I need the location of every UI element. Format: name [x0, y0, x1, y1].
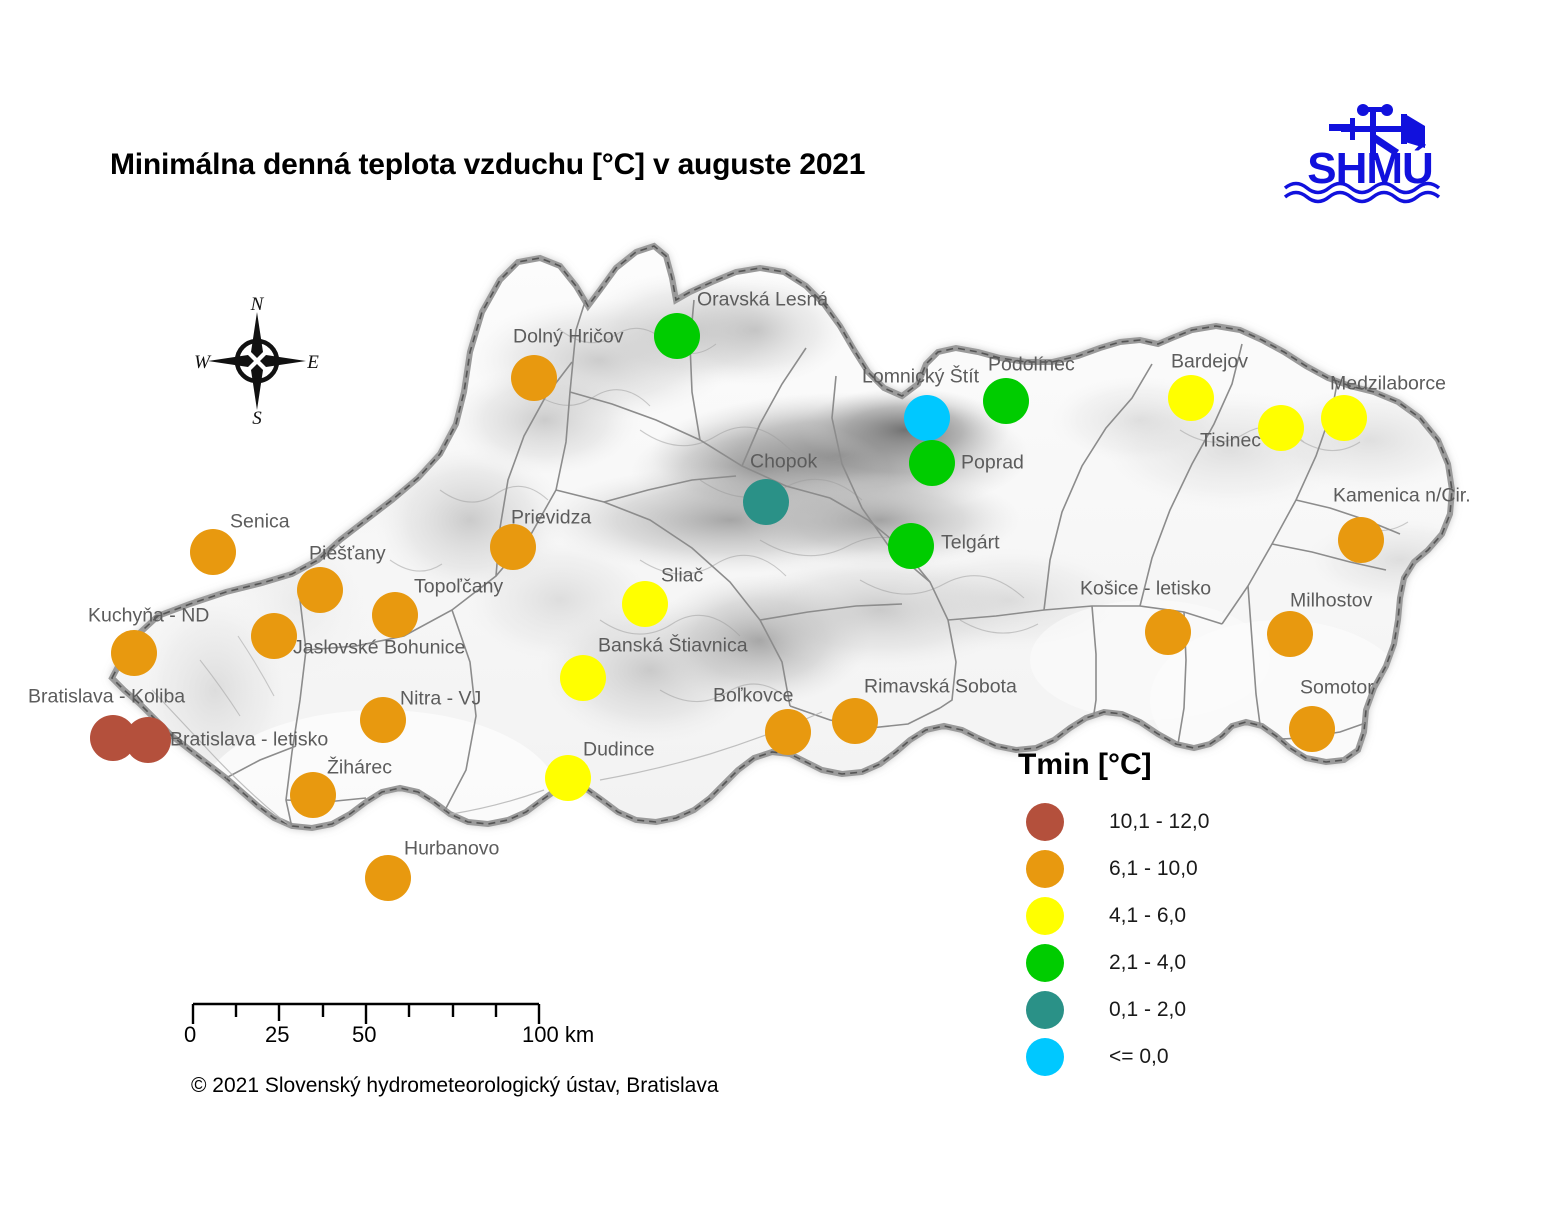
station-marker[interactable]: [1145, 609, 1191, 655]
legend-label: <= 0,0: [1109, 1045, 1169, 1069]
legend-swatch: [1026, 1038, 1064, 1076]
station-label: Sliač: [661, 565, 703, 588]
station-marker[interactable]: [904, 395, 950, 441]
compass-south-label: S: [252, 408, 262, 426]
station-label: Kuchyňa - ND: [88, 605, 209, 628]
legend-swatch: [1026, 803, 1064, 841]
legend-title: Tmin [°C]: [1018, 748, 1316, 782]
legend-label: 6,1 - 10,0: [1109, 857, 1198, 881]
scale-tick-25: 25: [265, 1022, 289, 1048]
station-label: Medzilaborce: [1330, 373, 1446, 396]
station-label: Telgárt: [941, 532, 1000, 555]
station-marker[interactable]: [372, 592, 418, 638]
legend-item: 10,1 - 12,0: [1016, 798, 1316, 845]
station-label: Bratislava - letisko: [170, 729, 328, 752]
station-label: Chopok: [750, 451, 817, 474]
map-page: Minimálna denná teplota vzduchu [°C] v a…: [0, 0, 1553, 1200]
station-label: Poprad: [961, 452, 1024, 475]
station-marker[interactable]: [1168, 375, 1214, 421]
station-label: Tisinec: [1200, 430, 1261, 453]
station-label: Senica: [230, 511, 290, 534]
station-label: Prievidza: [511, 507, 591, 530]
station-label: Nitra - VJ: [400, 688, 481, 711]
station-label: Hurbanovo: [404, 838, 499, 861]
station-label: Rimavská Sobota: [864, 676, 1017, 699]
station-marker[interactable]: [511, 355, 557, 401]
legend-item: 6,1 - 10,0: [1016, 845, 1316, 892]
legend-item: 2,1 - 4,0: [1016, 939, 1316, 986]
legend-rows: 10,1 - 12,06,1 - 10,04,1 - 6,02,1 - 4,00…: [1016, 798, 1316, 1080]
legend-swatch: [1026, 944, 1064, 982]
station-label: Topoľčany: [414, 576, 503, 599]
station-label: Oravská Lesná: [697, 289, 828, 312]
compass-north-label: N: [250, 296, 265, 315]
station-marker[interactable]: [1338, 517, 1384, 563]
station-marker[interactable]: [832, 698, 878, 744]
compass-east-label: E: [306, 352, 319, 373]
station-marker[interactable]: [622, 581, 668, 627]
compass-rose-icon: N S W E: [192, 296, 322, 426]
station-label: Podolínec: [988, 354, 1075, 377]
compass-west-label: W: [194, 352, 212, 373]
legend-label: 10,1 - 12,0: [1109, 810, 1209, 834]
copyright-text: © 2021 Slovenský hydrometeorologický úst…: [191, 1074, 719, 1098]
station-marker[interactable]: [983, 378, 1029, 424]
station-label: Jaslovské Bohunice: [293, 637, 465, 660]
station-label: Banská Štiavnica: [598, 635, 748, 658]
station-label: Piešťany: [309, 543, 386, 566]
legend-swatch: [1026, 897, 1064, 935]
station-marker[interactable]: [743, 479, 789, 525]
station-marker[interactable]: [545, 755, 591, 801]
station-marker[interactable]: [765, 709, 811, 755]
legend-label: 0,1 - 2,0: [1109, 998, 1186, 1022]
compass-rose: N S W E: [192, 296, 322, 426]
station-label: Somotor: [1300, 677, 1374, 700]
legend-label: 4,1 - 6,0: [1109, 904, 1186, 928]
station-marker[interactable]: [1321, 395, 1367, 441]
legend: Tmin [°C] 10,1 - 12,06,1 - 10,04,1 - 6,0…: [1016, 748, 1316, 1080]
station-marker[interactable]: [111, 630, 157, 676]
station-marker[interactable]: [909, 440, 955, 486]
station-label: Bardejov: [1171, 351, 1248, 374]
station-label: Dudince: [583, 739, 655, 762]
station-marker[interactable]: [490, 524, 536, 570]
legend-swatch: [1026, 850, 1064, 888]
station-marker[interactable]: [251, 613, 297, 659]
station-marker[interactable]: [654, 313, 700, 359]
station-label: Kamenica n/Cir.: [1333, 485, 1471, 508]
station-label: Boľkovce: [713, 685, 793, 708]
scale-tick-100: 100 km: [522, 1022, 594, 1048]
legend-item: 4,1 - 6,0: [1016, 892, 1316, 939]
station-marker[interactable]: [125, 717, 171, 763]
station-marker[interactable]: [1289, 706, 1335, 752]
station-marker[interactable]: [1267, 611, 1313, 657]
station-label: Lomnický Štít: [862, 366, 979, 389]
station-label: Milhostov: [1290, 590, 1372, 613]
station-marker[interactable]: [560, 655, 606, 701]
legend-label: 2,1 - 4,0: [1109, 951, 1186, 975]
station-label: Košice - letisko: [1080, 578, 1211, 601]
legend-item: 0,1 - 2,0: [1016, 986, 1316, 1033]
station-label: Dolný Hričov: [513, 326, 624, 349]
station-marker[interactable]: [190, 529, 236, 575]
station-marker[interactable]: [297, 567, 343, 613]
station-marker[interactable]: [365, 855, 411, 901]
legend-swatch: [1026, 991, 1064, 1029]
station-label: Žihárec: [327, 757, 392, 780]
scale-bar-labels: 0 25 50 100 km: [170, 1022, 610, 1052]
legend-item: <= 0,0: [1016, 1033, 1316, 1080]
station-label: Bratislava - Koliba: [28, 686, 185, 709]
station-marker[interactable]: [1258, 405, 1304, 451]
station-marker[interactable]: [888, 523, 934, 569]
scale-tick-0: 0: [184, 1022, 196, 1048]
scale-tick-50: 50: [352, 1022, 376, 1048]
